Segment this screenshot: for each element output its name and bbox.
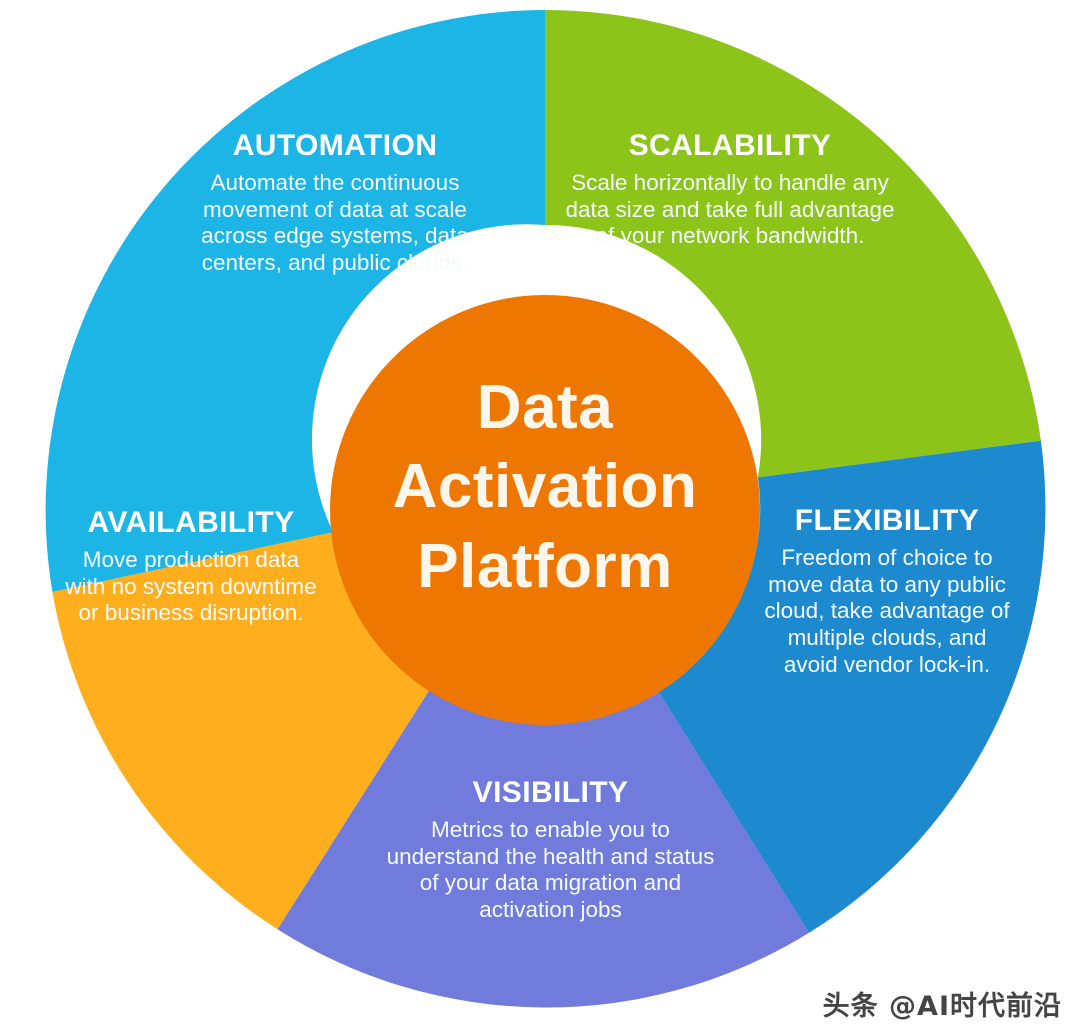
segment-flexibility-text: FLEXIBILITY Freedom of choice to move da… [762, 503, 1012, 678]
segment-scalability-text: SCALABILITY Scale horizontally to handle… [565, 128, 895, 250]
segment-scalability-body: Scale horizontally to handle any data si… [565, 170, 895, 250]
segment-availability-text: AVAILABILITY Move production data with n… [62, 505, 320, 627]
segment-availability-body: Move production data with no system down… [62, 547, 320, 627]
watermark-text: 头条 @AI时代前沿 [823, 984, 1062, 1023]
center-hub-line-2: Activation [330, 447, 760, 526]
segment-visibility-body: Metrics to enable you to understand the … [378, 817, 723, 923]
segment-visibility-title: VISIBILITY [378, 775, 723, 810]
segment-flexibility-body: Freedom of choice to move data to any pu… [762, 545, 1012, 678]
infographic-canvas: AUTOMATION Automate the continuous movem… [0, 0, 1080, 1035]
segment-automation-text: AUTOMATION Automate the continuous movem… [170, 128, 500, 277]
segment-automation-title: AUTOMATION [170, 128, 500, 163]
center-hub-label: Data Activation Platform [330, 368, 760, 606]
segment-visibility-text: VISIBILITY Metrics to enable you to unde… [378, 775, 723, 924]
segment-availability-title: AVAILABILITY [62, 505, 320, 540]
segment-flexibility-title: FLEXIBILITY [762, 503, 1012, 538]
segment-automation-body: Automate the continuous movement of data… [170, 170, 500, 276]
center-hub-line-1: Data [330, 368, 760, 447]
segment-scalability-title: SCALABILITY [565, 128, 895, 163]
center-hub-line-3: Platform [330, 527, 760, 606]
